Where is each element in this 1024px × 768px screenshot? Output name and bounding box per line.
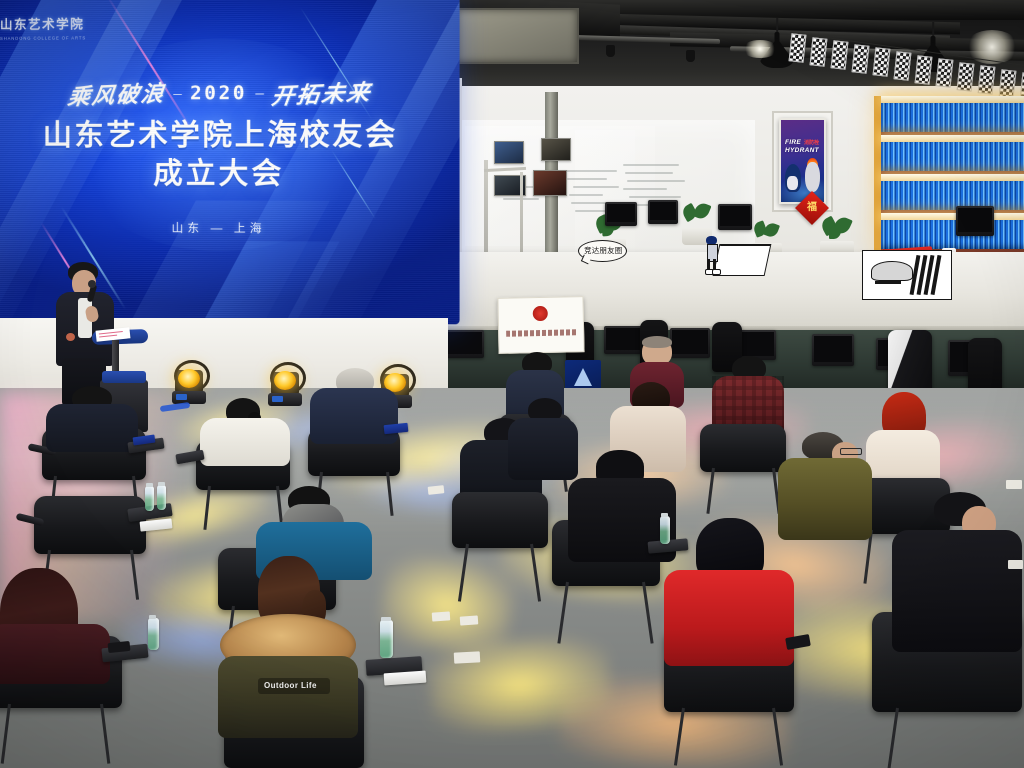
character-wall-decal	[703, 236, 720, 272]
floor-marker-card	[454, 651, 481, 663]
office-monitor	[718, 204, 752, 230]
fire-hydrant-poster: FIRE 消防栓 HYDRANT	[779, 118, 826, 204]
checkered-flag-icon	[873, 47, 891, 76]
checkered-flag-icon	[831, 40, 849, 69]
checkered-flag-icon	[810, 37, 828, 66]
speech-bubble-text: 竞达朋友圈	[584, 245, 623, 256]
audience-member	[508, 398, 580, 476]
ceiling-window	[455, 8, 579, 64]
floor-marker-card	[428, 485, 445, 495]
moving-head-light	[172, 356, 206, 404]
floor-marker-card	[1006, 480, 1022, 489]
manga-panel-decal	[713, 244, 772, 276]
office-monitor	[648, 200, 678, 224]
screen-title-line1: 山东艺术学院上海校友会	[16, 117, 426, 155]
gaming-monitor	[812, 334, 854, 366]
poster-cn-text: 消防栓	[804, 139, 819, 146]
checkered-flag-icon	[915, 55, 933, 84]
checkered-flag-icon	[852, 44, 870, 73]
college-logo: 山东艺术学院 SHANDONG COLLEGE OF ARTS	[0, 13, 86, 52]
gaming-monitor	[444, 330, 484, 358]
checkered-flag-icon	[936, 58, 954, 87]
poster-subtitle: HYDRANT	[785, 147, 819, 155]
audience-member	[46, 386, 140, 448]
wall-photo	[533, 170, 567, 196]
screen-kicker-line: 乘风破浪 – 2020 – 开拓未来	[16, 76, 426, 110]
audience-member	[866, 392, 942, 492]
audience-member	[0, 568, 112, 680]
audience-chair	[700, 424, 786, 472]
audience-chair-empty	[34, 496, 146, 554]
poster-title: FIRE	[785, 139, 801, 147]
framed-certificate	[497, 296, 584, 354]
ceiling-spot-glow	[742, 40, 778, 58]
checkered-flag-icon	[894, 51, 912, 80]
floor-marker-card	[432, 611, 451, 621]
track-light-icon	[686, 50, 695, 62]
microphone-icon	[88, 280, 96, 288]
jacket-brand-text: Outdoor Life	[264, 681, 317, 690]
podium-bell	[66, 333, 75, 341]
audience-member-outdoor-life: Outdoor Life	[216, 556, 362, 736]
kicker-dash-right: –	[255, 84, 264, 101]
logo-text-cn: 山东艺术学院	[0, 13, 86, 33]
screen-headline-block: 乘风破浪 – 2020 – 开拓未来 山东艺术学院上海校友会 成立大会 山东 —…	[16, 76, 426, 237]
audience-chair	[452, 492, 548, 548]
floor-marker-card	[460, 615, 479, 625]
charm-character: 福	[805, 201, 819, 215]
eyeglasses-icon	[840, 448, 862, 455]
speech-bubble-sign: 竞达朋友圈	[578, 240, 627, 262]
water-bottle	[157, 485, 166, 510]
track-light-icon	[606, 45, 615, 57]
led-display-shelf	[874, 96, 1024, 256]
office-monitor	[956, 206, 994, 236]
audience-member	[200, 398, 292, 462]
logo-text-en: SHANDONG COLLEGE OF ARTS	[0, 35, 86, 41]
kicker-right-text: 开拓未来	[270, 74, 374, 111]
bunting-string	[790, 28, 1024, 88]
checkered-flag-icon	[978, 65, 996, 94]
checkered-flag-icon	[789, 33, 807, 62]
red-seal-icon	[533, 306, 548, 321]
floor-marker-card	[1008, 560, 1023, 569]
water-bottle	[380, 620, 393, 658]
checkered-flag-icon	[999, 69, 1017, 98]
screen-footer-text: 山东 — 上海	[16, 219, 426, 237]
wall-photo	[494, 141, 524, 164]
kicker-year: 2020	[190, 82, 247, 105]
water-bottle	[660, 516, 670, 544]
water-bottle	[148, 618, 159, 650]
screen-title-line2: 成立大会	[16, 155, 426, 194]
kicker-dash-left: –	[173, 85, 182, 102]
wall-photo	[541, 138, 571, 161]
manga-panel-decal	[862, 250, 952, 300]
photo-canvas: FIRE 消防栓 HYDRANT 福	[0, 0, 1024, 768]
office-monitor	[605, 202, 637, 226]
water-bottle	[145, 486, 154, 511]
checkered-flag-icon	[957, 62, 975, 91]
audience-member	[892, 492, 1024, 648]
kicker-left-text: 乘风破浪	[66, 75, 168, 111]
